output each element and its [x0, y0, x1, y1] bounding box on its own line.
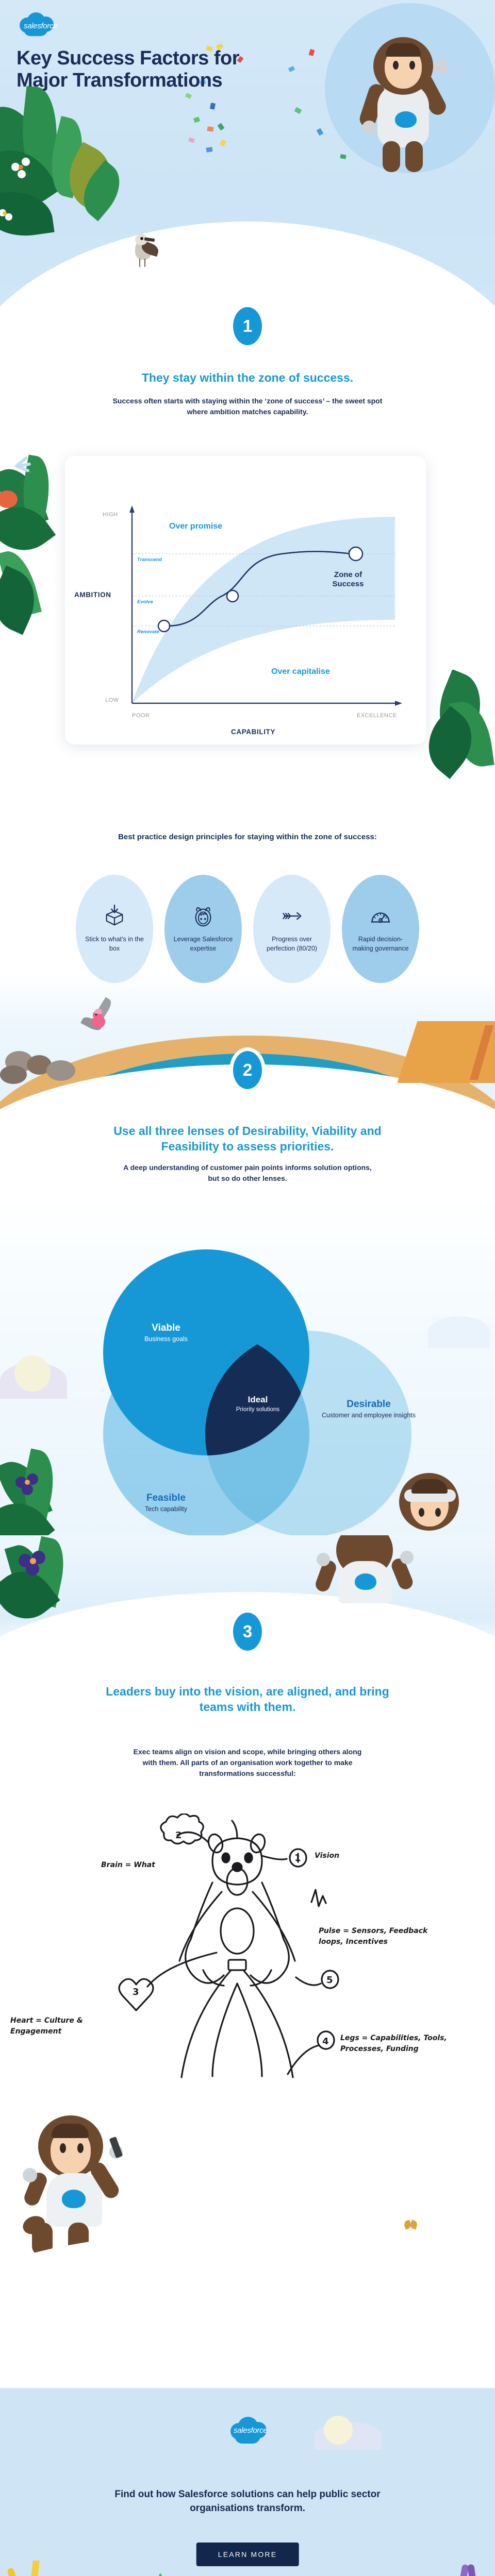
section-2-number-badge: 2 — [233, 1051, 262, 1089]
cta-headline: Find out how Salesforce solutions can he… — [0, 2488, 495, 2516]
svg-text:3: 3 — [133, 1987, 139, 1997]
bear-label-pulse: Pulse = Sensors, Feedback loops, Incenti… — [319, 1926, 448, 1947]
venn-label-feasible: Feasible Tech capability — [114, 1493, 218, 1513]
svg-text:4: 4 — [322, 2036, 329, 2047]
box-arrow-down-icon — [103, 904, 126, 928]
zone-of-success-band — [132, 517, 395, 703]
section-3-heading: Leaders buy into the vision, are aligned… — [0, 1684, 495, 1715]
chart-y-tick-high: HIGH — [103, 512, 118, 518]
section-1-subheading: Success often starts with staying within… — [0, 396, 495, 417]
chart-x-tick-excellence: EXCELLENCE — [357, 713, 397, 719]
cta-section: salesforce Find out how Salesforce solut… — [0, 2388, 495, 2576]
section-3-subheading: Exec teams align on vision and scope, wh… — [0, 1747, 495, 1779]
bear-framework-diagram: 1 2 3 4 5 Vision Brain = What Heart = Cu… — [0, 1814, 495, 2133]
butterfly-icon — [404, 2221, 418, 2231]
principle-card-progress-over-perfection[interactable]: Progress over perfection (80/20) — [253, 875, 331, 983]
principles-list: Stick to what’s in the box Leverage Sale… — [0, 875, 495, 983]
venn-label-desirable: Desirable Customer and employee insights — [320, 1399, 418, 1419]
bear-label-brain: Brain = What — [101, 1860, 155, 1871]
svg-text:5: 5 — [326, 1975, 333, 1986]
section-2-subheading: A deep understanding of customer pain po… — [0, 1162, 495, 1184]
principles-title: Best practice design principles for stay… — [0, 833, 495, 841]
venn-label-ideal: Ideal Priority solutions — [217, 1395, 299, 1413]
arrow-forward-icon — [280, 904, 304, 928]
chart-band-label-transcend: Transcend — [137, 557, 162, 563]
bear-label-legs: Legs = Capabilities, Tools, Processes, F… — [340, 2033, 459, 2055]
salesforce-logo: salesforce — [16, 10, 55, 37]
hero-section: salesforce Key Success Factors for Major… — [0, 0, 495, 330]
salesforce-logo-text: salesforce — [24, 22, 55, 30]
section-1-heading: They stay within the zone of success. — [0, 370, 495, 385]
astro-thumbsup-illustration — [315, 1535, 418, 1607]
galah-bird-icon — [82, 1005, 115, 1037]
foliage-chart-right-decoration — [423, 670, 495, 783]
principle-label: Stick to what’s in the box — [82, 935, 147, 954]
venn-label-viable: Viable Business goals — [109, 1323, 223, 1343]
bottom-foliage-strip — [0, 2561, 495, 2576]
principle-label: Rapid decision-making governance — [348, 935, 413, 954]
infographic-page: salesforce Key Success Factors for Major… — [0, 0, 495, 2576]
page-title: Key Success Factors for Major Transforma… — [16, 47, 264, 91]
principle-label: Progress over perfection (80/20) — [259, 935, 324, 954]
astro-mascot-illustration — [325, 13, 480, 173]
section-3-number-badge: 3 — [233, 1613, 262, 1651]
hill-shape — [0, 2231, 495, 2401]
zone-of-success-chart: AMBITION CAPABILITY HIGH LOW POOR EXCELL… — [65, 456, 426, 744]
kookaburra-bird-icon — [129, 232, 162, 269]
chart-band-label-evolve: Evolve — [137, 599, 153, 605]
cta-salesforce-logo: salesforce — [227, 2415, 268, 2445]
principle-label: Leverage Salesforce expertise — [171, 935, 236, 954]
svg-text:2: 2 — [175, 1830, 182, 1841]
chart-y-axis-label: AMBITION — [74, 591, 111, 599]
chart-annotation-zone-of-success: Zone of Success — [320, 570, 376, 589]
chart-x-axis-label: CAPABILITY — [231, 728, 275, 736]
bear-label-heart: Heart = Culture & Engagement — [10, 2015, 129, 2037]
svg-text:1: 1 — [294, 1853, 301, 1863]
chart-band-label-renovate: Renovate — [137, 629, 159, 635]
chart-x-tick-poor: POOR — [132, 713, 150, 719]
chart-annotation-over-promise: Over promise — [169, 522, 222, 531]
section-2-heading: Use all three lenses of Desirability, Vi… — [0, 1123, 495, 1155]
chart-y-tick-low: LOW — [105, 697, 119, 703]
principle-card-rapid-governance[interactable]: Rapid decision-making governance — [342, 875, 419, 983]
chart-svg — [65, 456, 426, 744]
speedometer-icon — [369, 904, 392, 928]
bear-label-vision: Vision — [315, 1851, 339, 1861]
astro-head-icon — [191, 904, 215, 928]
principle-card-stick-to-box[interactable]: Stick to what’s in the box — [76, 875, 153, 983]
astro-mascot-visor-illustration — [382, 1466, 474, 1543]
bear-sketch-svg: 1 2 3 4 5 — [0, 1814, 495, 2133]
chart-annotation-over-capitalise: Over capitalise — [271, 667, 330, 676]
section-1-number-badge: 1 — [233, 307, 262, 345]
cta-logo-text: salesforce — [234, 2426, 262, 2435]
principle-card-leverage-salesforce[interactable]: Leverage Salesforce expertise — [164, 875, 242, 983]
